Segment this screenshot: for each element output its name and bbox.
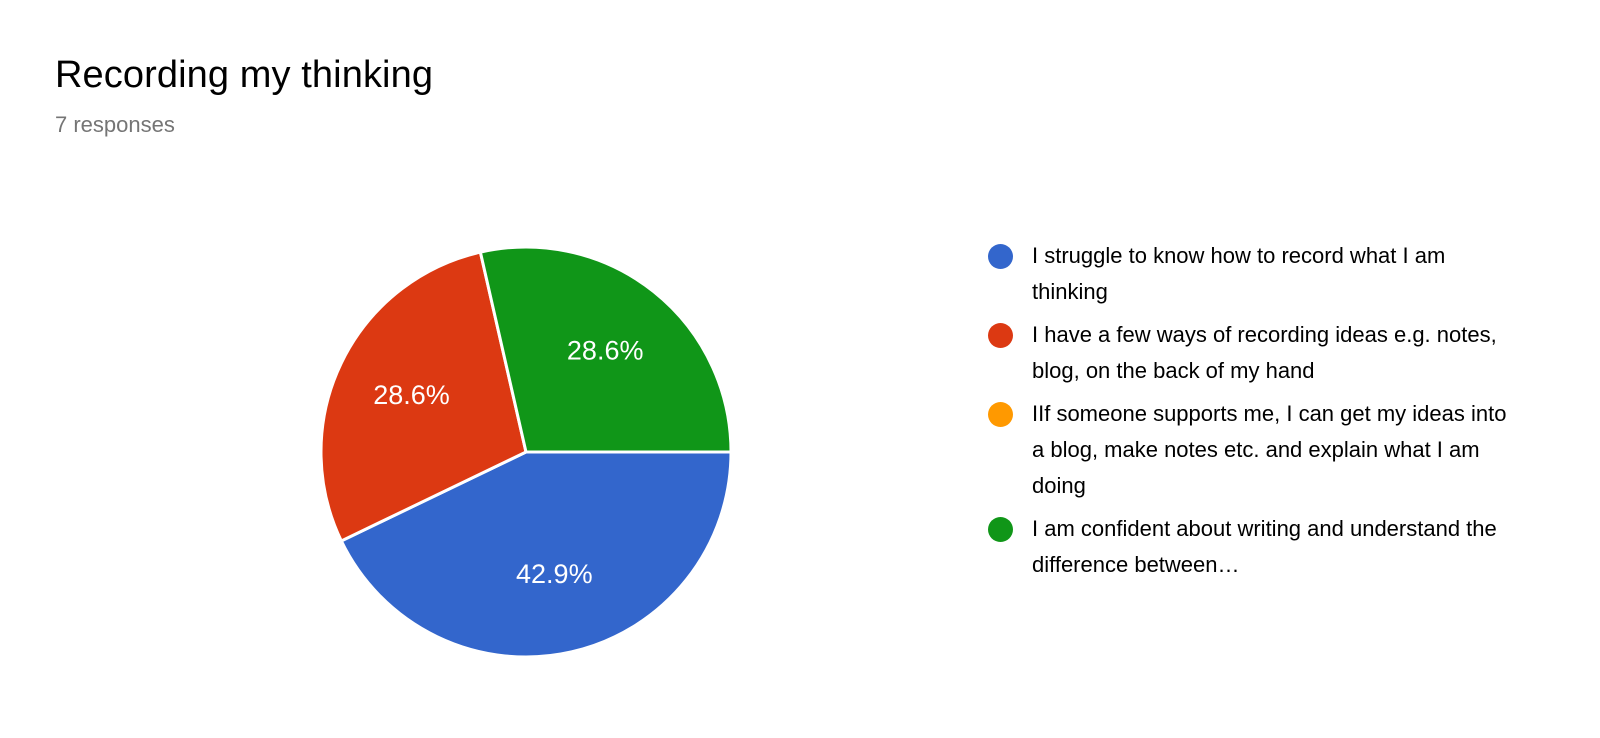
pie-slice[interactable] [321,252,526,541]
legend-item[interactable]: I am confident about writing and underst… [988,511,1508,583]
legend-item[interactable]: IIf someone supports me, I can get my id… [988,396,1508,504]
pie-slice-percent-label: 42.9% [516,559,593,589]
legend-item[interactable]: I struggle to know how to record what I … [988,238,1508,310]
pie-slice-group [321,247,731,657]
chart-legend: I struggle to know how to record what I … [988,238,1508,590]
pie-slice[interactable] [341,452,731,657]
legend-item-label: IIf someone supports me, I can get my id… [1032,396,1508,504]
form-response-chart-page: Recording my thinking 7 responses 42.9%2… [0,0,1600,738]
legend-color-dot-icon [988,244,1013,269]
legend-item-label: I struggle to know how to record what I … [1032,238,1508,310]
response-count: 7 responses [55,110,955,140]
legend-color-dot-icon [988,323,1013,348]
legend-item[interactable]: I have a few ways of recording ideas e.g… [988,317,1508,389]
legend-item-label: I am confident about writing and underst… [1032,511,1508,583]
pie-slice-percent-label: 28.6% [567,336,644,366]
legend-item-label: I have a few ways of recording ideas e.g… [1032,317,1508,389]
chart-header: Recording my thinking 7 responses [55,52,955,140]
pie-slice-percent-label: 28.6% [373,380,450,410]
pie-slice[interactable] [480,247,731,452]
pie-slice-label-group: 42.9%28.6%28.6% [373,336,643,589]
legend-color-dot-icon [988,402,1013,427]
legend-color-dot-icon [988,517,1013,542]
page-title: Recording my thinking [55,52,955,98]
